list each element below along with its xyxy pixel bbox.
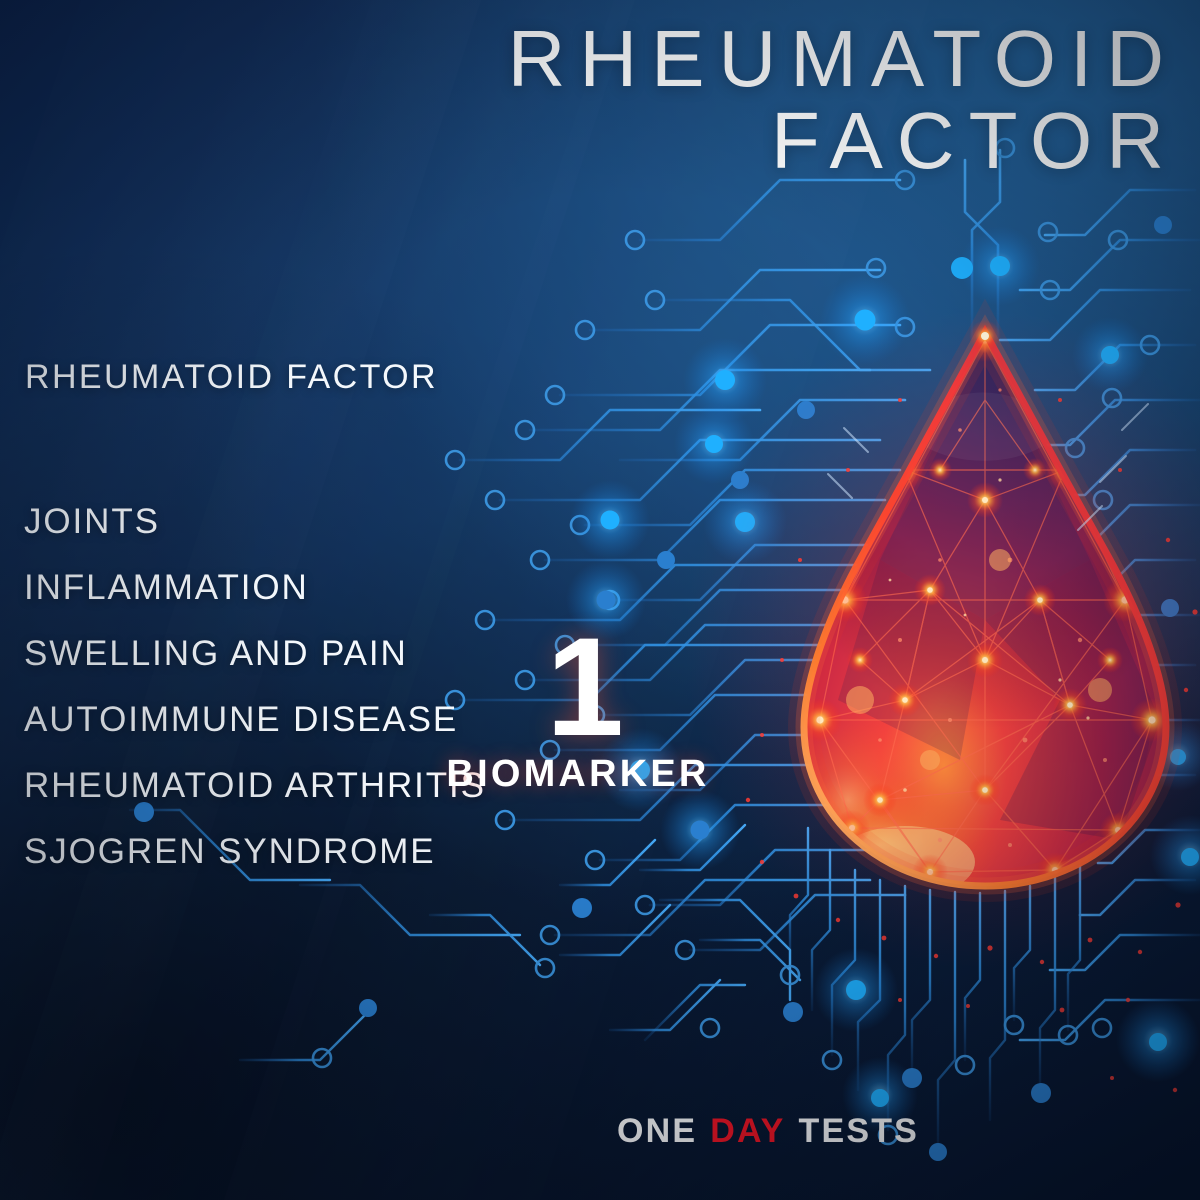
title-line-2: FACTOR — [78, 100, 1178, 182]
brand-logo: ONEDAYTESTS — [168, 1112, 1200, 1151]
list-item: SJOGREN SYNDROME — [24, 819, 486, 885]
list-item: JOINTS — [24, 489, 486, 555]
poster-canvas: RHEUMATOID FACTOR RHEUMATOID FACTOR JOIN… — [0, 0, 1200, 1200]
subtitle-text: RHEUMATOID FACTOR — [25, 358, 438, 397]
logo-word-tests: TESTS — [798, 1112, 919, 1150]
logo-word-one: ONE — [617, 1112, 697, 1150]
title-line-1: RHEUMATOID — [78, 18, 1178, 100]
list-item: INFLAMMATION — [24, 555, 486, 621]
biomarker-count: 1 — [0, 617, 1185, 757]
logo-word-day: DAY — [710, 1112, 785, 1150]
biomarker-label: BIOMARKER — [0, 753, 1178, 796]
poster-title: RHEUMATOID FACTOR — [78, 18, 1178, 183]
